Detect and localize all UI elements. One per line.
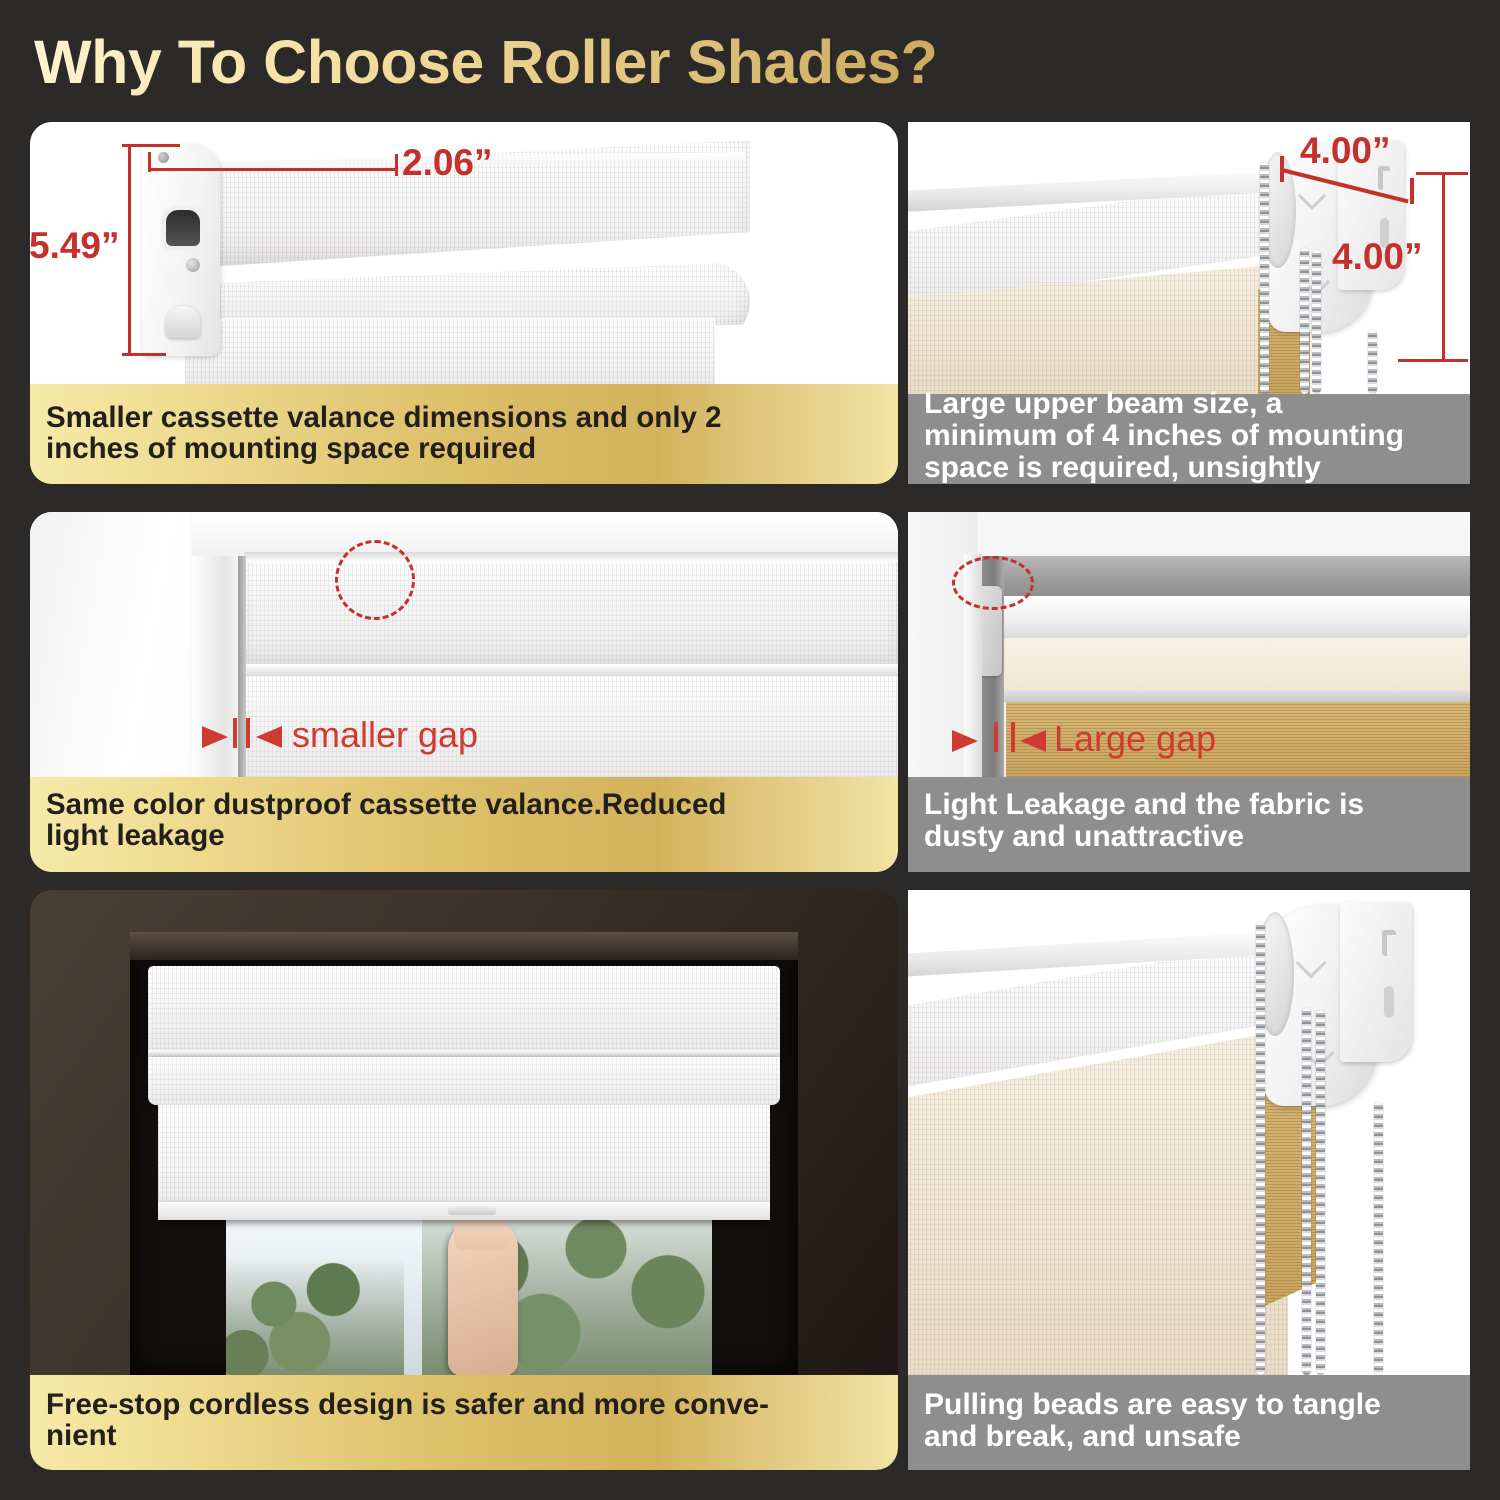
- bead-chain-1: [1256, 922, 1265, 1375]
- panel-mid-left: smaller gap Same color dustproof cassett…: [30, 512, 898, 872]
- panel-top-right-caption: Large upper beam size, a minimum of 4 in…: [908, 394, 1470, 484]
- bead-chain-2: [1302, 1008, 1311, 1375]
- panel-bottom-left-image: [30, 890, 898, 1375]
- gap-tick-right: [1011, 722, 1015, 752]
- highlight-circle: [952, 556, 1034, 610]
- beam-width-tick-right: [1410, 178, 1414, 204]
- gap-arrow-left: [952, 730, 978, 752]
- panel-top-left: 2.06” 5.49” Smaller cassette valance dim…: [30, 122, 898, 484]
- page-title: Why To Choose Roller Shades?: [34, 24, 1134, 100]
- shade-fabric: [185, 318, 715, 384]
- panel-top-right: 4.00” 4.00” Large upper beam size, a min…: [908, 122, 1470, 484]
- panel-mid-left-caption: Same color dustproof cassette valance.Re…: [30, 777, 898, 872]
- panel-top-right-image: 4.00” 4.00”: [908, 122, 1470, 394]
- gap-shadow-strip: [238, 556, 246, 777]
- window-frame-top-rail: [192, 512, 898, 556]
- width-dim-tick-left: [148, 152, 151, 172]
- panel-mid-left-image: smaller gap: [30, 512, 898, 777]
- gap-tick-left: [233, 718, 237, 748]
- bead-chain-1: [1260, 162, 1269, 394]
- cassette-valance: [148, 966, 780, 1054]
- valance-bottom-edge: [244, 664, 898, 676]
- shade-grip-handle: [448, 1206, 496, 1215]
- bead-chain-4: [1368, 330, 1377, 394]
- beige-fascia-bar: [970, 638, 1470, 694]
- caption-line-1: Smaller cassette valance dimensions and …: [46, 402, 722, 433]
- beam-height-dim-label: 4.00”: [1332, 236, 1423, 278]
- height-dim-label: 5.49”: [30, 225, 120, 267]
- bracket-plate: [1340, 902, 1412, 1062]
- panel-bottom-right-image: [908, 890, 1470, 1375]
- height-dim-tick-top: [122, 144, 180, 147]
- end-cap-top-screw-icon: [158, 152, 169, 163]
- width-dim-label: 2.06”: [402, 142, 493, 184]
- panel-bottom-right-caption: Pulling beads are easy to tangle and bre…: [908, 1375, 1470, 1470]
- panel-bottom-left: Free-stop cordless design is safer and m…: [30, 890, 898, 1470]
- fascia-bottom-rail: [970, 690, 1470, 702]
- gap-tick-right: [246, 718, 250, 748]
- panel-bottom-left-caption: Free-stop cordless design is safer and m…: [30, 1375, 898, 1470]
- panel-mid-right-image: Large gap: [908, 512, 1470, 777]
- gap-arrow-right: [256, 726, 282, 748]
- caption-line-2: minimum of 4 inches of mounting: [924, 420, 1404, 452]
- gap-callout-label: Large gap: [1054, 718, 1216, 760]
- end-cap-bottom-clip-icon: [166, 306, 200, 338]
- caption-line-1: Same color dustproof cassette valance.Re…: [46, 789, 726, 820]
- tree-foliage-left: [226, 1256, 404, 1375]
- gap-arrow-left: [202, 726, 228, 748]
- window-top-soffit: [130, 932, 798, 960]
- end-cap-slot-icon: [166, 210, 200, 246]
- width-dim-line: [148, 168, 398, 171]
- lower-beige-fabric: [908, 1030, 1288, 1375]
- caption-line-3: space is required, unsightly: [924, 452, 1321, 484]
- caption-line-2: nient: [46, 1420, 116, 1451]
- caption-line-2: inches of mounting space required: [46, 433, 536, 464]
- beam-width-tick-left: [1280, 156, 1284, 182]
- caption-line-1: Pulling beads are easy to tangle: [924, 1389, 1381, 1421]
- highlight-circle: [335, 540, 415, 620]
- caption-line-2: and break, and unsafe: [924, 1421, 1241, 1453]
- panel-top-left-caption: Smaller cassette valance dimensions and …: [30, 384, 898, 484]
- roller-tube-highlight: [970, 596, 1470, 640]
- panel-mid-right-caption: Light Leakage and the fabric is dusty an…: [908, 777, 1470, 872]
- caption-line-1: Free-stop cordless design is safer and m…: [46, 1389, 769, 1420]
- height-dim-line: [128, 144, 131, 356]
- beam-height-tick-bottom: [1398, 359, 1468, 362]
- panel-top-left-image: 2.06” 5.49”: [30, 122, 898, 384]
- caption-line-1: Large upper beam size, a: [924, 388, 1282, 420]
- gap-tick-left: [994, 722, 998, 752]
- caption-line-2: light leakage: [46, 820, 225, 851]
- beam-width-dim-label: 4.00”: [1300, 130, 1391, 172]
- beam-height-dim-line: [1442, 172, 1445, 362]
- caption-line-2: dusty and unattractive: [924, 821, 1244, 853]
- bead-chain-4: [1374, 1102, 1383, 1375]
- end-cap-screw-icon: [186, 258, 200, 272]
- valance-lower-roll: [148, 1057, 780, 1105]
- panel-bottom-right: Pulling beads are easy to tangle and bre…: [908, 890, 1470, 1470]
- shade-fabric-panel: [158, 1105, 770, 1213]
- bead-chain-2: [1300, 248, 1309, 394]
- bracket-slot-icon-2: [1384, 986, 1394, 1018]
- exposed-roller-tube: [970, 556, 1470, 598]
- bracket-slot-icon-1: [1382, 930, 1396, 956]
- caption-line-1: Light Leakage and the fabric is: [924, 789, 1364, 821]
- width-dim-tick-right: [395, 154, 398, 176]
- panel-mid-right: Large gap Light Leakage and the fabric i…: [908, 512, 1470, 872]
- gap-callout-label: smaller gap: [292, 714, 478, 756]
- bead-chain-3: [1316, 1010, 1325, 1375]
- beam-height-tick-top: [1416, 172, 1468, 175]
- gap-arrow-right: [1020, 730, 1046, 752]
- bead-chain-3: [1312, 250, 1321, 394]
- height-dim-tick-bottom: [122, 353, 166, 356]
- valance-divider-line: [148, 1050, 780, 1057]
